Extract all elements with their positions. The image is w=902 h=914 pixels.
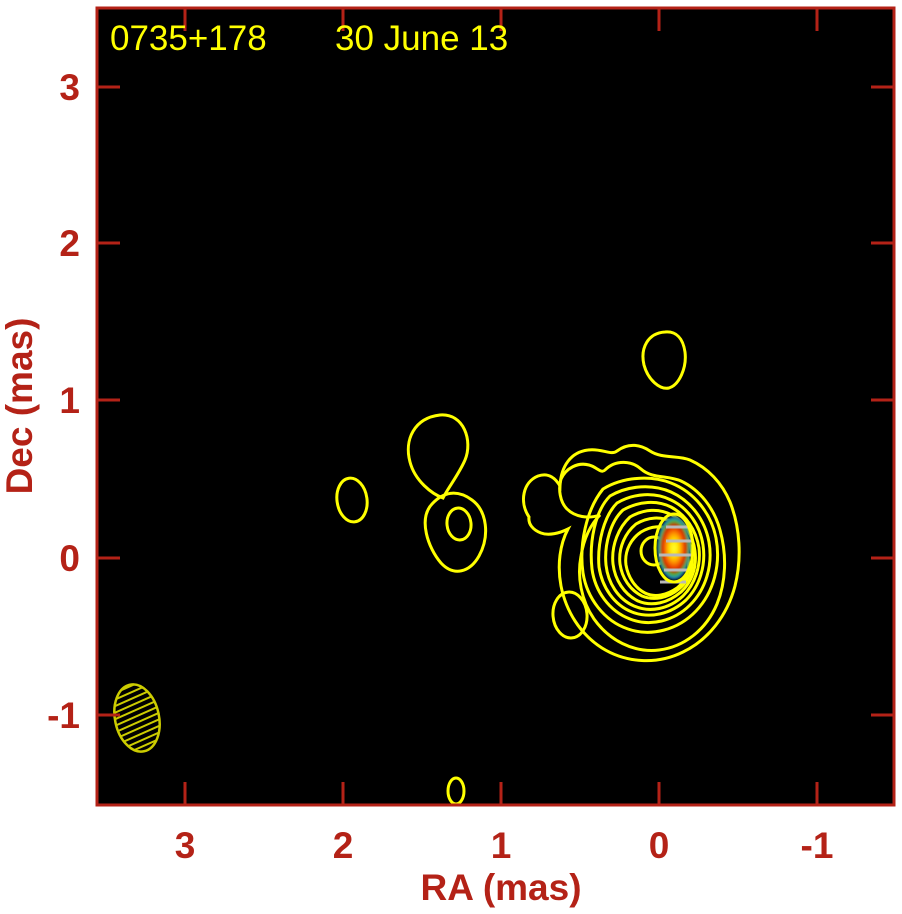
y-tick-label-4: -1 xyxy=(47,695,80,736)
x-tick-label-0: 3 xyxy=(175,825,196,866)
contour-map-figure: 3 2 1 0 -1 3 2 1 0 -1 RA (mas) Dec (mas)… xyxy=(0,0,902,914)
x-tick-label-3: 0 xyxy=(649,825,670,866)
x-tick-label-1: 2 xyxy=(333,825,354,866)
y-tick-label-1: 2 xyxy=(59,223,80,264)
y-axis-title: Dec (mas) xyxy=(0,318,40,495)
source-name-label: 0735+178 xyxy=(110,19,267,58)
x-axis-title: RA (mas) xyxy=(420,867,581,908)
plot-canvas: 3 2 1 0 -1 3 2 1 0 -1 RA (mas) Dec (mas)… xyxy=(0,0,902,914)
x-tick-label-4: -1 xyxy=(801,825,834,866)
y-tick-label-2: 1 xyxy=(59,380,80,421)
y-tick-label-3: 0 xyxy=(59,538,80,579)
plot-area-background xyxy=(97,8,894,805)
y-tick-label-0: 3 xyxy=(59,67,80,108)
observation-date-label: 30 June 13 xyxy=(335,19,508,58)
x-tick-label-2: 1 xyxy=(491,825,512,866)
